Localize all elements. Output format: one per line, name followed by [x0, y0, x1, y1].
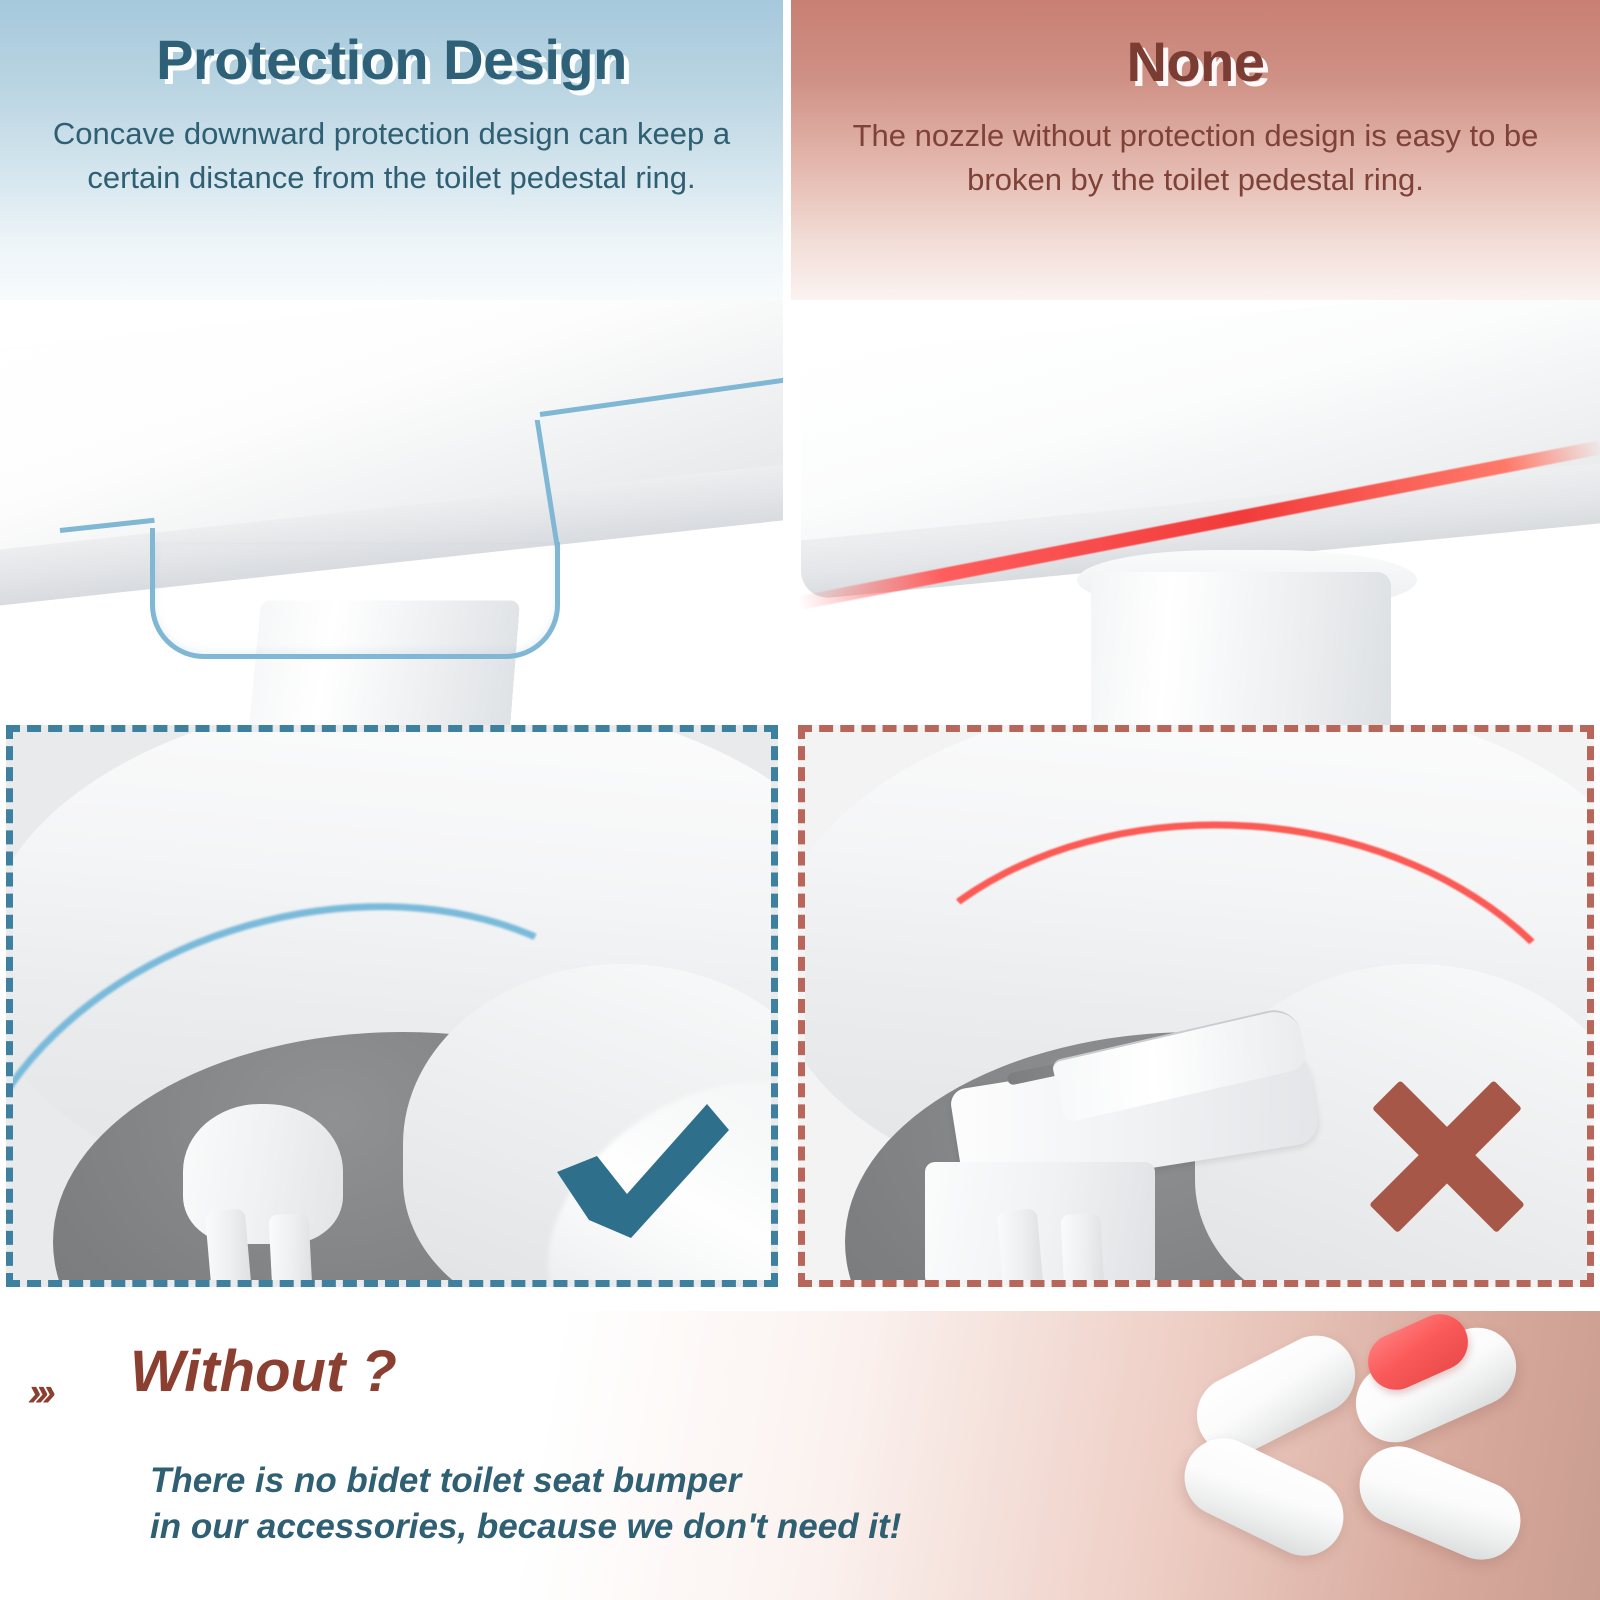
check-icon: [539, 1094, 739, 1244]
bumper-pad: [1171, 1425, 1356, 1569]
panel-title-right: None: [1127, 34, 1265, 90]
notch-outline-left-icon: [150, 528, 155, 550]
spray-nozzle: [268, 1213, 313, 1287]
bottom-heading: Without ?: [130, 1343, 397, 1401]
seat-edge-photo-none: [791, 300, 1600, 725]
header-row: Protection Design Concave downward prote…: [0, 0, 1600, 300]
panel-title-left: Protection Design: [156, 32, 627, 88]
header-panel-none: None The nozzle without protection desig…: [791, 0, 1600, 300]
bottom-description: There is no bidet toilet seat bumper in …: [150, 1458, 1150, 1550]
spray-nozzle: [1060, 1213, 1105, 1287]
seat-edge-photo-row: [0, 300, 1600, 725]
header-panel-protection: Protection Design Concave downward prote…: [0, 0, 783, 300]
comparison-panel-none: [798, 725, 1594, 1287]
comparison-panel-protection: [6, 725, 778, 1287]
seat-edge-photo-protection: [0, 300, 783, 725]
bumper-pads-illustration: [1180, 1318, 1580, 1593]
pedestal-ring: [1091, 572, 1391, 725]
concave-notch-outline-icon: [150, 542, 560, 659]
bottom-description-line-1: There is no bidet toilet seat bumper: [150, 1458, 1150, 1504]
bumper-pad: [1347, 1434, 1532, 1571]
infographic-page: Protection Design Concave downward prote…: [0, 0, 1600, 1600]
bottom-description-line-2: in our accessories, because we don't nee…: [150, 1504, 1150, 1550]
comparison-panel-row: [0, 725, 1600, 1295]
panel-subtitle-left: Concave downward protection design can k…: [8, 112, 776, 200]
chevron-right-triple-icon: ›››: [28, 1372, 50, 1412]
header-divider: [783, 0, 791, 300]
cross-icon: [1367, 1078, 1527, 1238]
panel-subtitle-right: The nozzle without protection design is …: [802, 114, 1590, 202]
